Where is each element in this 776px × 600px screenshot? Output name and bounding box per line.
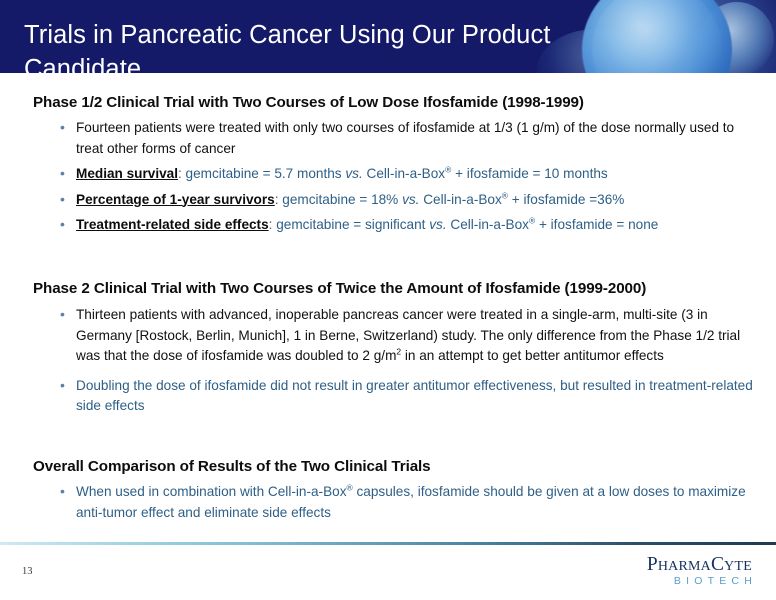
bullet-text: + ifosfamide = none [535, 217, 658, 232]
list-item: Treatment-related side effects: gemcitab… [56, 215, 762, 236]
bullet-text: + ifosfamide = 10 months [451, 166, 607, 181]
bullet-text-vs: vs. [429, 217, 446, 232]
section-heading-overall-comparison: Overall Comparison of Results of the Two… [33, 458, 431, 475]
bullet-text: When used in combination with Cell-in-a-… [76, 484, 347, 499]
bullet-text: in an attempt to get better antitumor ef… [401, 348, 664, 363]
section-heading-phase-2: Phase 2 Clinical Trial with Two Courses … [33, 280, 646, 297]
bullet-text: : gemcitabine = significant [269, 217, 430, 232]
section-heading-phase-1-2: Phase 1/2 Clinical Trial with Two Course… [33, 94, 584, 111]
list-item: Percentage of 1-year survivors: gemcitab… [56, 190, 762, 211]
bullet-text: Cell-in-a-Box [363, 166, 445, 181]
bullet-text: Doubling the dose of ifosfamide did not … [76, 378, 753, 414]
bullet-list-phase-1-2: Fourteen patients were treated with only… [56, 118, 762, 241]
bullet-text-vs: vs. [402, 192, 419, 207]
bullet-text: : gemcitabine = 18% [275, 192, 402, 207]
bullet-text: Cell-in-a-Box [447, 217, 529, 232]
list-item: When used in combination with Cell-in-a-… [56, 482, 762, 523]
bullet-list-overall-comparison: When used in combination with Cell-in-a-… [56, 482, 762, 523]
list-item: Fourteen patients were treated with only… [56, 118, 762, 159]
bullet-list-phase-2: Thirteen patients with advanced, inopera… [56, 305, 762, 426]
page-number: 13 [22, 566, 33, 577]
list-item: Doubling the dose of ifosfamide did not … [56, 376, 762, 417]
bullet-text: : gemcitabine = 5.7 months [178, 166, 345, 181]
list-item: Median survival: gemcitabine = 5.7 month… [56, 164, 762, 185]
page-title: Trials in Pancreatic Cancer Using Our Pr… [24, 18, 664, 73]
bullet-label: Percentage of 1-year survivors [76, 192, 275, 207]
bullet-text: Cell-in-a-Box [419, 192, 501, 207]
bullet-label: Treatment-related side effects [76, 217, 269, 232]
brand-name: PharmaCyte [647, 555, 752, 575]
brand-subtitle: BIOTECH [647, 575, 757, 588]
bullet-text: Fourteen patients were treated with only… [76, 120, 734, 156]
bullet-text-vs: vs. [345, 166, 362, 181]
footer-divider [0, 542, 776, 545]
bullet-text: + ifosfamide =36% [508, 192, 624, 207]
brand-logo: PharmaCyte BIOTECH [647, 555, 752, 588]
list-item: Thirteen patients with advanced, inopera… [56, 305, 762, 367]
bullet-label: Median survival [76, 166, 178, 181]
slide-header: Trials in Pancreatic Cancer Using Our Pr… [0, 0, 776, 73]
